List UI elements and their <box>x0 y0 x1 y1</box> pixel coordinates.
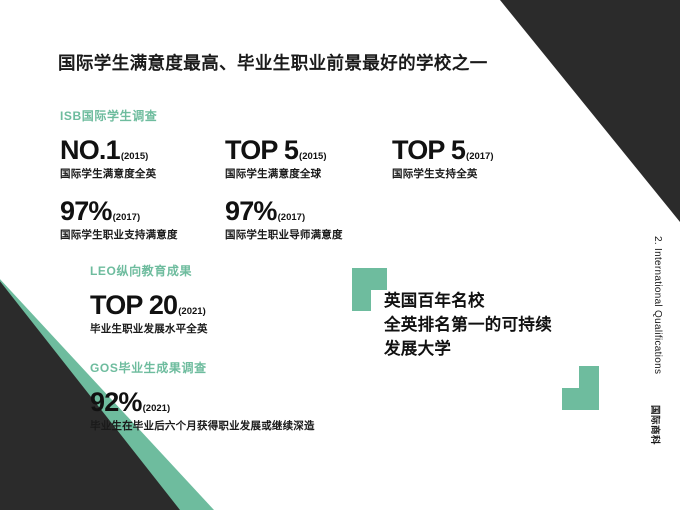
stat-year: (2015) <box>121 151 148 162</box>
stat-year: (2021) <box>143 403 170 414</box>
stat-year: (2021) <box>178 306 205 317</box>
stat-description: 国际学生职业导师满意度 <box>225 227 343 242</box>
stat-block-top20: TOP 20 (2021) 毕业生职业发展水平全英 <box>90 292 208 336</box>
stat-value: TOP 20 <box>90 292 177 320</box>
stat-block-92: 92% (2021) 毕业生在毕业后六个月获得职业发展或继续深造 <box>90 389 315 433</box>
stat-headline: NO.1 (2015) <box>60 137 156 165</box>
top-right-black-triangle-decoration <box>500 0 680 222</box>
stat-headline: 92% (2021) <box>90 389 315 417</box>
stat-value: 97% <box>225 198 277 226</box>
stat-headline: TOP 5 (2015) <box>225 137 327 165</box>
section-label-isb: ISB国际学生调查 <box>60 107 157 124</box>
callout-line-1: 英国百年名校 <box>384 290 552 314</box>
bracket-vertical-arm <box>579 366 599 410</box>
stat-description: 国际学生职业支持满意度 <box>60 227 178 242</box>
bracket-vertical-arm <box>352 268 371 311</box>
callout-green-bracket-icon <box>352 268 387 311</box>
callout-text-block: 英国百年名校 全英排名第一的可持续 发展大学 <box>384 290 552 362</box>
stat-value: 97% <box>60 198 112 226</box>
stat-year: (2017) <box>466 151 493 162</box>
stat-headline: TOP 5 (2017) <box>392 137 494 165</box>
lower-right-green-bracket-icon <box>562 366 599 410</box>
stat-year: (2017) <box>113 212 140 223</box>
stat-block-no1: NO.1 (2015) 国际学生满意度全英 <box>60 137 156 181</box>
stat-description: 毕业生在毕业后六个月获得职业发展或继续深造 <box>90 418 315 433</box>
stat-block-97-career-mentor: 97% (2017) 国际学生职业导师满意度 <box>225 198 343 242</box>
stat-headline: 97% (2017) <box>60 198 178 226</box>
stat-block-top5-support: TOP 5 (2017) 国际学生支持全英 <box>392 137 494 181</box>
stat-block-top5-global: TOP 5 (2015) 国际学生满意度全球 <box>225 137 327 181</box>
stat-value: 92% <box>90 389 142 417</box>
stat-value: TOP 5 <box>392 137 465 165</box>
section-label-leo: LEO纵向教育成果 <box>90 262 192 279</box>
presentation-slide: 国际学生满意度最高、毕业生职业前景最好的学校之一 ISB国际学生调查 NO.1 … <box>0 0 680 510</box>
section-label-gos: GOS毕业生成果调查 <box>90 359 207 376</box>
stat-description: 国际学生满意度全球 <box>225 166 327 181</box>
stat-description: 毕业生职业发展水平全英 <box>90 321 208 336</box>
stat-headline: 97% (2017) <box>225 198 343 226</box>
page-title: 国际学生满意度最高、毕业生职业前景最好的学校之一 <box>58 50 488 75</box>
stat-year: (2015) <box>299 151 326 162</box>
stat-block-97-career-support: 97% (2017) 国际学生职业支持满意度 <box>60 198 178 242</box>
stat-headline: TOP 20 (2021) <box>90 292 208 320</box>
side-label-chapter-chinese: 国际商科 <box>649 405 663 445</box>
stat-value: TOP 5 <box>225 137 298 165</box>
stat-description: 国际学生满意度全英 <box>60 166 156 181</box>
callout-line-3: 发展大学 <box>384 338 552 362</box>
side-label-chapter-english: 2. International Qualifications <box>652 236 663 374</box>
callout-line-2: 全英排名第一的可持续 <box>384 314 552 338</box>
stat-description: 国际学生支持全英 <box>392 166 494 181</box>
stat-value: NO.1 <box>60 137 120 165</box>
stat-year: (2017) <box>278 212 305 223</box>
